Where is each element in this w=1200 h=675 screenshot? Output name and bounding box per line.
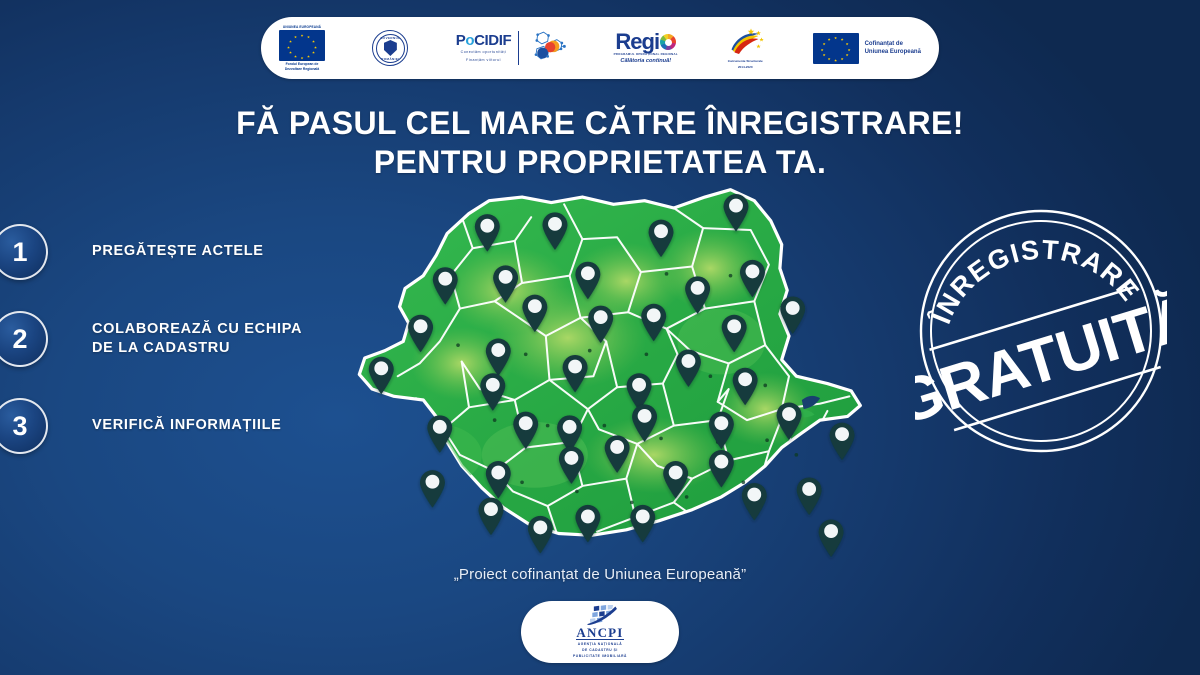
romania-map[interactable] <box>352 168 864 568</box>
funding-caption: „Proiect cofinanțat de Uniunea Europeană… <box>0 566 1200 583</box>
map-pin[interactable] <box>630 505 655 542</box>
regio-wordmark: Regi <box>615 32 659 52</box>
cofinantat-line-2: Uniunea Europeană <box>865 48 921 56</box>
eu-stars <box>279 30 325 61</box>
step-label-3: VERIFICĂ INFORMAȚIILE <box>92 416 282 435</box>
regio-tagline: Călătoria continuă! <box>620 58 671 64</box>
pocidif-p: P <box>456 32 466 49</box>
list-item[interactable]: 1 PREGĂTEȘTE ACTELE <box>0 224 332 280</box>
ancpi-mark-icon <box>580 605 620 625</box>
map-pin[interactable] <box>742 483 767 520</box>
ancpi-logo[interactable]: ANCPI AGENȚIA NAȚIONALĂ DE CADASTRU ȘI P… <box>521 601 679 663</box>
pocidif-o: o <box>465 32 474 49</box>
map-pin[interactable] <box>797 477 822 514</box>
logo-guvernul-romaniei: GUVERNUL ROMÂNIEI <box>372 30 408 66</box>
pocidif-text-block: PoCIDIF Conectăm oportunități Finanțăm v… <box>456 33 512 62</box>
map-pin[interactable] <box>830 423 855 460</box>
step-badge-1: 1 <box>0 224 48 280</box>
gov-bottom-label: ROMÂNIEI <box>373 57 407 61</box>
map-pin[interactable] <box>420 470 445 507</box>
list-item[interactable]: 2 COLABOREAZĂ CU ECHIPA DE LA CADASTRU <box>0 311 332 367</box>
step-badge-2: 2 <box>0 311 48 367</box>
ancpi-sub-1: AGENȚIA NAȚIONALĂ <box>573 642 627 647</box>
pocidif-tagline-1: Conectăm oportunități <box>461 50 507 55</box>
logo-regio: Regi PROGRAMUL OPERAȚIONAL REGIONAL Călă… <box>614 32 678 63</box>
steps-list: 1 PREGĂTEȘTE ACTELE 2 COLABOREAZĂ CU ECH… <box>0 224 332 485</box>
logo-pocidif: PoCIDIF Conectăm oportunități Finanțăm v… <box>456 30 567 66</box>
fedr-top-label: UNIUNEA EUROPEANĂ <box>283 25 321 29</box>
step-badge-3: 3 <box>0 398 48 454</box>
headline-line-1: FĂ PASUL CEL MARE CĂTRE ÎNREGISTRARE! <box>236 105 964 141</box>
ancpi-sub-2: DE CADASTRU ȘI <box>573 648 627 653</box>
cofinantat-text: Cofinanțat de Uniunea Europeană <box>865 40 921 57</box>
step-label-2: COLABOREAZĂ CU ECHIPA DE LA CADASTRU <box>92 320 302 358</box>
gov-crest-icon <box>384 40 397 56</box>
instrumente-label-2: 2014-2020 <box>738 65 753 69</box>
gov-top-label: GUVERNUL <box>373 36 407 40</box>
regio-colorwheel-icon <box>660 34 676 50</box>
poster-canvas: UNIUNEA EUROPEANĂ Fondul European de Dez… <box>0 0 1200 675</box>
pocidif-wordmark: PoCIDIF <box>456 33 512 48</box>
logo-instrumente-structurale: Instrumente Structurale 2014-2020 <box>725 27 765 69</box>
status-badge: ÎNREGISTRARE GRATUITĂ <box>915 205 1167 457</box>
free-registration-stamp: ÎNREGISTRARE GRATUITĂ <box>915 205 1167 457</box>
ancpi-wordmark: ANCPI <box>576 626 623 641</box>
logo-cofinantat-ue: Cofinanțat de Uniunea Europeană <box>813 33 921 64</box>
government-seal-icon: GUVERNUL ROMÂNIEI <box>372 30 408 66</box>
header-logo-bar: UNIUNEA EUROPEANĂ Fondul European de Dez… <box>261 17 939 79</box>
map-pin[interactable] <box>575 505 600 542</box>
pocidif-cidif: CIDIF <box>474 32 511 49</box>
step-label-1: PREGĂTEȘTE ACTELE <box>92 242 264 261</box>
regio-micro-label: PROGRAMUL OPERAȚIONAL REGIONAL <box>614 53 678 56</box>
map-pin[interactable] <box>478 498 503 535</box>
pocidif-tagline-2: Finanțăm viitorul <box>466 58 501 63</box>
pocidif-divider <box>518 31 519 65</box>
ancpi-sub-3: PUBLICITATE IMOBILIARĂ <box>573 654 627 659</box>
logo-fondul-european: UNIUNEA EUROPEANĂ Fondul European de Dez… <box>279 25 325 71</box>
ancpi-subtitle: AGENȚIA NAȚIONALĂ DE CADASTRU ȘI PUBLICI… <box>573 640 627 659</box>
list-item[interactable]: 3 VERIFICĂ INFORMAȚIILE <box>0 398 332 454</box>
eu-stars-cofinantat <box>813 33 859 64</box>
map-pin[interactable] <box>819 520 844 557</box>
fedr-bottom-label: Fondul European de Dezvoltare Regională <box>285 62 319 71</box>
map-pin[interactable] <box>528 516 553 553</box>
eu-flag-icon-cofinantat <box>813 33 859 64</box>
romania-map-svg <box>352 168 864 568</box>
regio-row: Regi <box>615 32 676 52</box>
instrumente-flag-icon <box>725 27 765 57</box>
eu-flag-icon <box>279 30 325 61</box>
cofinantat-line-1: Cofinanțat de <box>865 40 921 48</box>
instrumente-label-1: Instrumente Structurale <box>728 59 763 63</box>
molecule-icon <box>526 30 566 66</box>
